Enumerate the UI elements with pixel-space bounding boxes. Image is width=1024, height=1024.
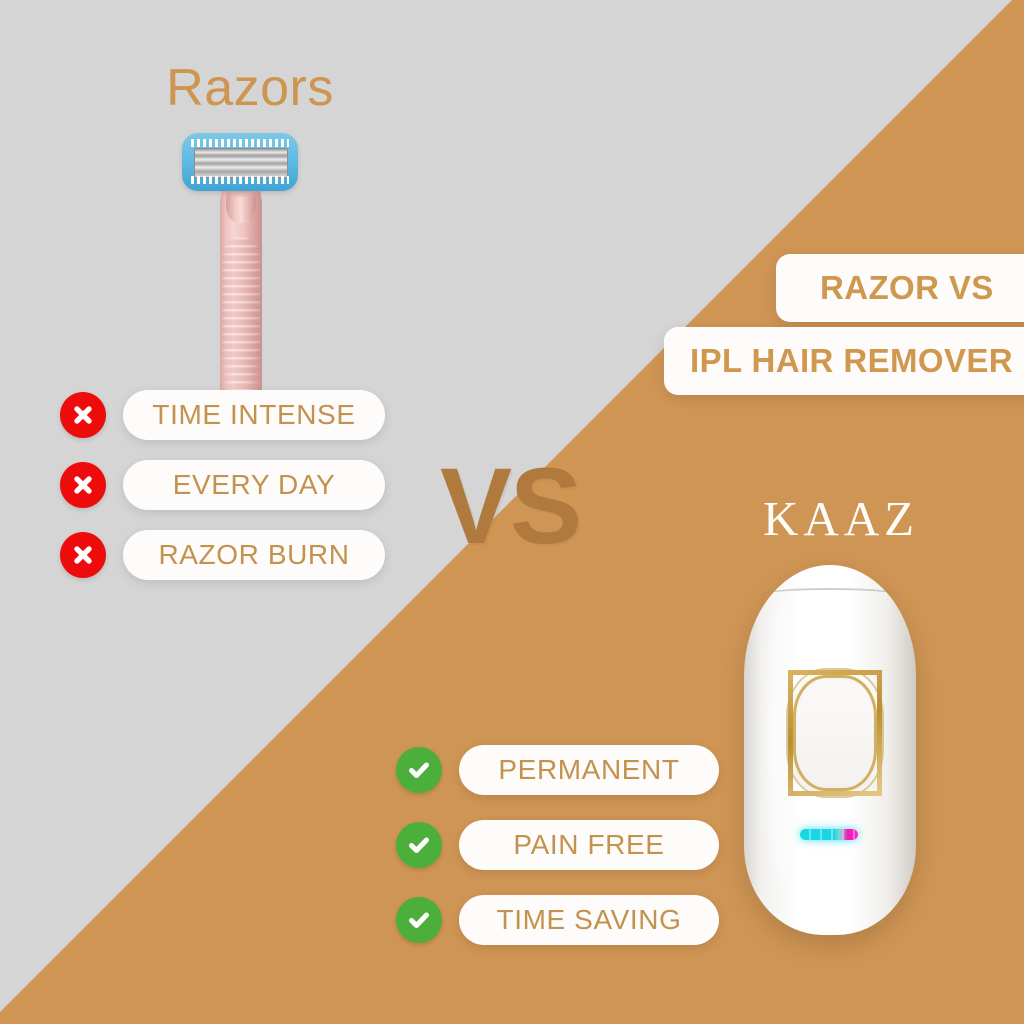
check-icon [396,747,442,793]
check-icon [396,897,442,943]
headline-badge-primary-label: RAZOR VS [820,269,994,307]
vs-divider-label: VS [440,452,580,560]
ipl-device-cap-seam [760,588,900,602]
razor-comb-top [191,139,289,147]
razor-blades [194,148,288,178]
feature-pill: RAZOR BURN [123,530,385,580]
list-item: RAZOR BURN [60,530,385,580]
feature-label: EVERY DAY [173,469,336,501]
feature-label: RAZOR BURN [158,539,349,571]
cross-icon [60,532,106,578]
list-item: TIME SAVING [396,895,719,945]
razor-grip-ridges [222,237,260,407]
feature-pill: TIME INTENSE [123,390,385,440]
cross-icon [60,462,106,508]
ipl-device-icon [744,565,916,935]
list-item: TIME INTENSE [60,390,385,440]
feature-label: TIME SAVING [497,904,682,936]
headline-badge-primary: RAZOR VS [776,254,1024,322]
cross-icon [60,392,106,438]
feature-pill: PAIN FREE [459,820,719,870]
feature-pill: EVERY DAY [123,460,385,510]
list-item: PERMANENT [396,745,719,795]
comparison-graphic: Razors RAZOR VS IPL HAIR REMOVER VS TIME… [0,0,1024,1024]
headline-badge-secondary: IPL HAIR REMOVER [664,327,1024,395]
ipl-device-flash-window-ring [788,670,882,796]
ipl-device-led-segments [800,829,858,840]
check-icon [396,822,442,868]
razor-icon [182,133,298,418]
left-panel-title: Razors [0,62,500,114]
feature-label: PERMANENT [498,754,679,786]
list-item: PAIN FREE [396,820,719,870]
headline-badge-secondary-label: IPL HAIR REMOVER [690,342,1013,380]
brand-wordmark: KAAZ [746,494,936,543]
razor-comb-bottom [191,176,289,184]
razor-cartridge-head [182,133,298,191]
feature-pill: PERMANENT [459,745,719,795]
feature-label: TIME INTENSE [152,399,355,431]
feature-pill: TIME SAVING [459,895,719,945]
feature-label: PAIN FREE [513,829,664,861]
list-item: EVERY DAY [60,460,385,510]
